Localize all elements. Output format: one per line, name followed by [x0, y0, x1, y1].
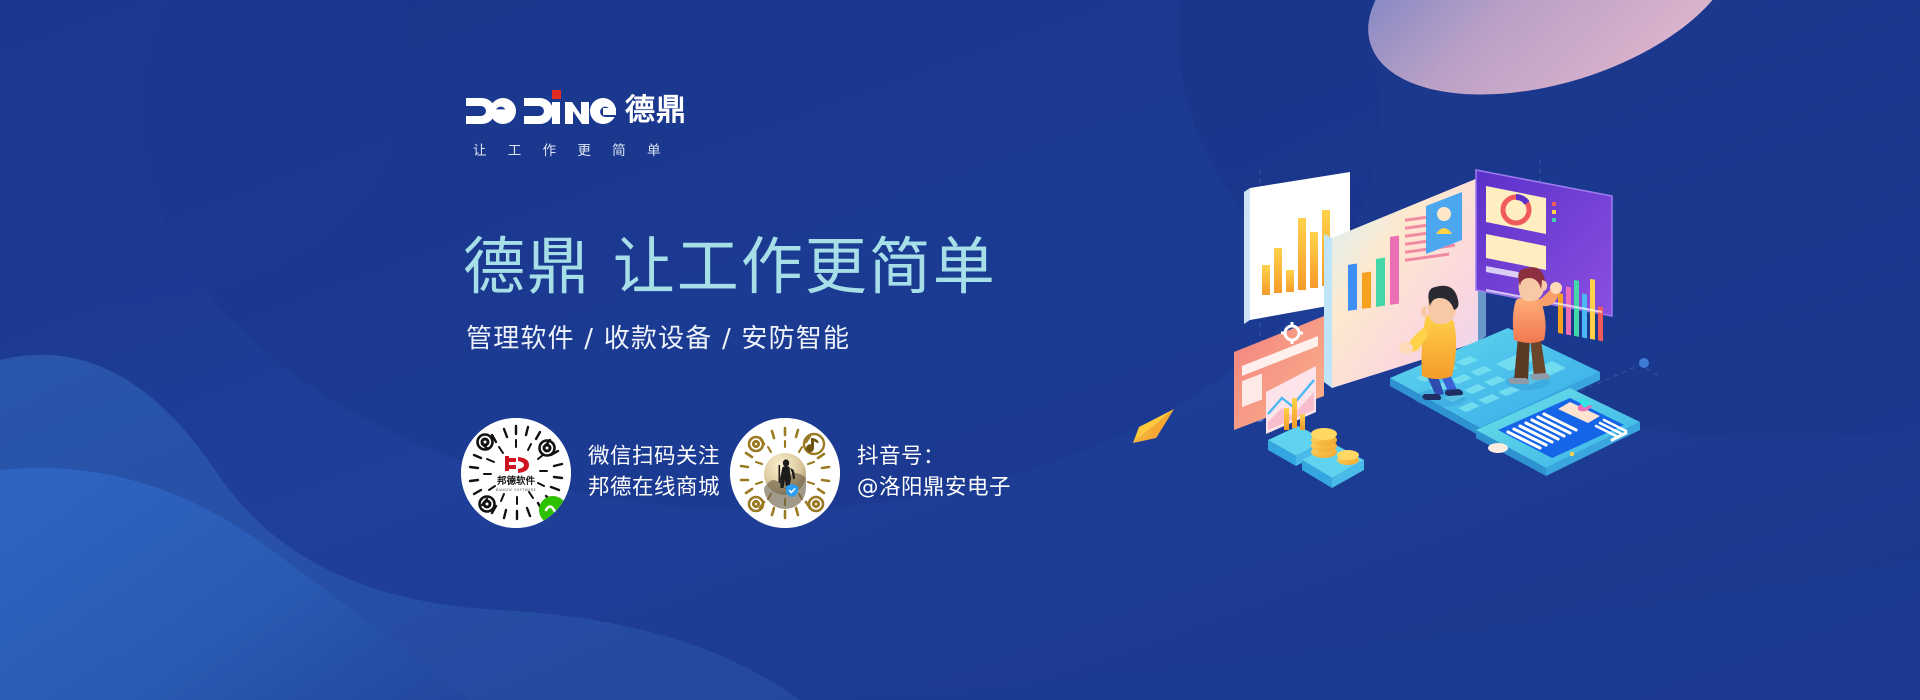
line-chart-card — [1234, 316, 1324, 434]
logo-tagline: 让 工 作 更 简 单 — [473, 139, 786, 159]
miniprogram-badge-icon — [539, 496, 567, 524]
qr-block-wechat[interactable]: 邦德软件 BANGDE SOFTWARE 微信扫码关注 邦德在线商城 — [461, 418, 720, 528]
wechat-qr-caption: 微信扫码关注 邦德在线商城 — [588, 442, 720, 503]
douyin-caption-line1: 抖音号： — [857, 442, 1011, 473]
brand-logo[interactable]: 德鼎 让 工 作 更 简 单 — [466, 88, 786, 159]
page-subtitle: 管理软件 / 收款设备 / 安防智能 — [466, 318, 850, 355]
douyin-caption-line2: @洛阳鼎安电子 — [857, 473, 1011, 504]
qr-block-douyin[interactable]: 抖音号： @洛阳鼎安电子 — [730, 418, 1011, 528]
paper-plane-icon — [1130, 405, 1180, 454]
douyin-qr-caption: 抖音号： @洛阳鼎安电子 — [857, 442, 1011, 503]
promo-banner: 德鼎 让 工 作 更 简 单 德鼎 让工作更简单 管理软件 / 收款设备 / 安… — [0, 0, 1920, 700]
isometric-business-analytics-illustration — [1240, 130, 1660, 490]
logo-dot-icon — [552, 90, 561, 99]
deding-wordmark-icon — [466, 88, 616, 128]
page-title: 德鼎 让工作更简单 — [463, 232, 997, 301]
logo-row: 德鼎 — [466, 88, 786, 128]
wechat-caption-line2: 邦德在线商城 — [588, 473, 720, 504]
svg-text:邦德软件: 邦德软件 — [497, 475, 536, 487]
svg-text:BANGDE SOFTWARE: BANGDE SOFTWARE — [496, 488, 536, 492]
wechat-miniprogram-qr-icon[interactable]: 邦德软件 BANGDE SOFTWARE — [461, 418, 571, 528]
wechat-caption-line1: 微信扫码关注 — [588, 442, 720, 473]
logo-chinese-name: 德鼎 — [625, 96, 687, 126]
douyin-qr-icon[interactable] — [730, 418, 840, 528]
